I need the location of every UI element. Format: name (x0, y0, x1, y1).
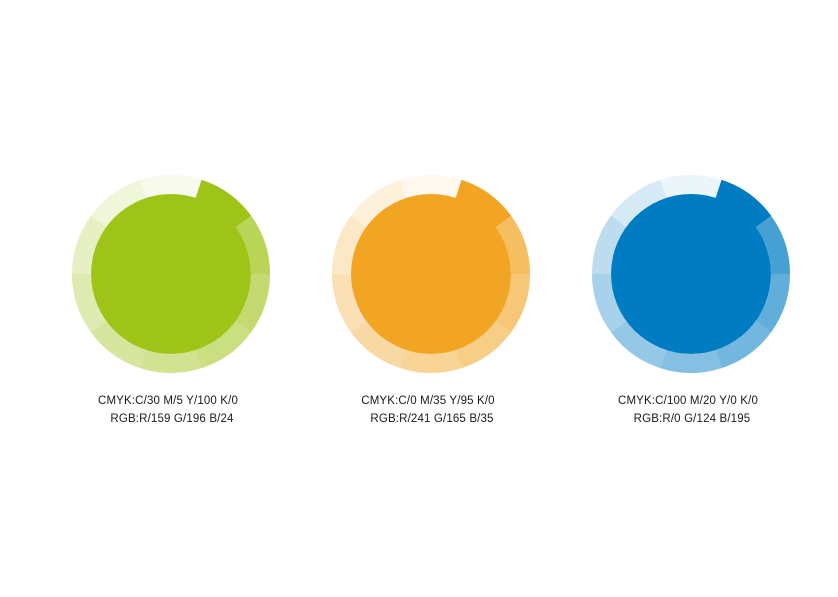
orange-swatch-accent-wedge (431, 180, 511, 274)
orange-swatch-wheel (330, 173, 532, 375)
orange-swatch-ring-segment-8 (332, 274, 366, 332)
orange-swatch-inner-disc (351, 194, 511, 354)
green-swatch-caption: CMYK:C/30 M/5 Y/100 K/0RGB:R/159 G/196 B… (21, 393, 321, 428)
green-swatch-ring-segment-8 (72, 274, 106, 332)
green-swatch-ring-segment-10 (91, 180, 146, 227)
green-swatch-ring-segment-4 (236, 274, 270, 332)
blue-swatch-ring-segment-10 (611, 180, 666, 227)
green-swatch-inner-disc (91, 194, 251, 354)
green-swatch-ring-segment-6 (140, 350, 201, 373)
orange-swatch-ring-segment-5 (456, 321, 511, 368)
green-swatch-ring-segment-9 (72, 216, 106, 274)
orange-swatch-ring-segment-10 (351, 180, 406, 227)
green-swatch-ring-segment-1 (140, 175, 201, 198)
orange-swatch-caption: CMYK:C/0 M/35 Y/95 K/0RGB:R/241 G/165 B/… (281, 393, 581, 428)
orange-swatch-ring-segment-4 (496, 274, 530, 332)
green-swatch-ring-segment-3 (236, 216, 270, 274)
green-swatch-cmyk-label: CMYK:C/30 M/5 Y/100 K/0 (21, 393, 321, 411)
swatch-wheel-group (0, 0, 838, 597)
blue-swatch-ring-segment-5 (716, 321, 771, 368)
blue-swatch-ring-segment-9 (592, 216, 626, 274)
blue-swatch-accent-wedge (691, 180, 771, 274)
green-swatch-ring-segment-5 (196, 321, 251, 368)
orange-swatch-ring-segment-7 (351, 321, 406, 368)
orange-swatch-rgb-label: RGB:R/241 G/165 B/35 (281, 411, 581, 429)
blue-swatch-ring-segment-8 (592, 274, 626, 332)
blue-swatch-ring-segment-2 (691, 180, 771, 274)
blue-swatch-ring-segment-4 (756, 274, 790, 332)
swatch-caption-group: CMYK:C/30 M/5 Y/100 K/0RGB:R/159 G/196 B… (0, 0, 838, 597)
green-swatch-rgb-label: RGB:R/159 G/196 B/24 (21, 411, 321, 429)
blue-swatch-ring-segment-6 (660, 350, 721, 373)
green-swatch-ring-segment-2 (171, 180, 251, 274)
green-swatch-accent-wedge (171, 180, 251, 274)
orange-swatch-ring-segment-1 (400, 175, 461, 198)
blue-swatch-ring-segment-7 (611, 321, 666, 368)
swatch-canvas: CMYK:C/30 M/5 Y/100 K/0RGB:R/159 G/196 B… (0, 0, 838, 597)
blue-swatch-cmyk-label: CMYK:C/100 M/20 Y/0 K/0 (541, 393, 838, 411)
blue-swatch-wheel (590, 173, 792, 375)
blue-swatch-inner-disc (611, 194, 771, 354)
orange-swatch-ring-segment-9 (332, 216, 366, 274)
green-swatch-wheel (70, 173, 272, 375)
blue-swatch-rgb-label: RGB:R/0 G/124 B/195 (541, 411, 838, 429)
orange-swatch-ring-segment-3 (496, 216, 530, 274)
blue-swatch-caption: CMYK:C/100 M/20 Y/0 K/0RGB:R/0 G/124 B/1… (541, 393, 838, 428)
orange-swatch-ring-segment-2 (431, 180, 511, 274)
orange-swatch-ring-segment-6 (400, 350, 461, 373)
blue-swatch-ring-segment-1 (660, 175, 721, 198)
orange-swatch-cmyk-label: CMYK:C/0 M/35 Y/95 K/0 (281, 393, 581, 411)
green-swatch-ring-segment-7 (91, 321, 146, 368)
blue-swatch-ring-segment-3 (756, 216, 790, 274)
